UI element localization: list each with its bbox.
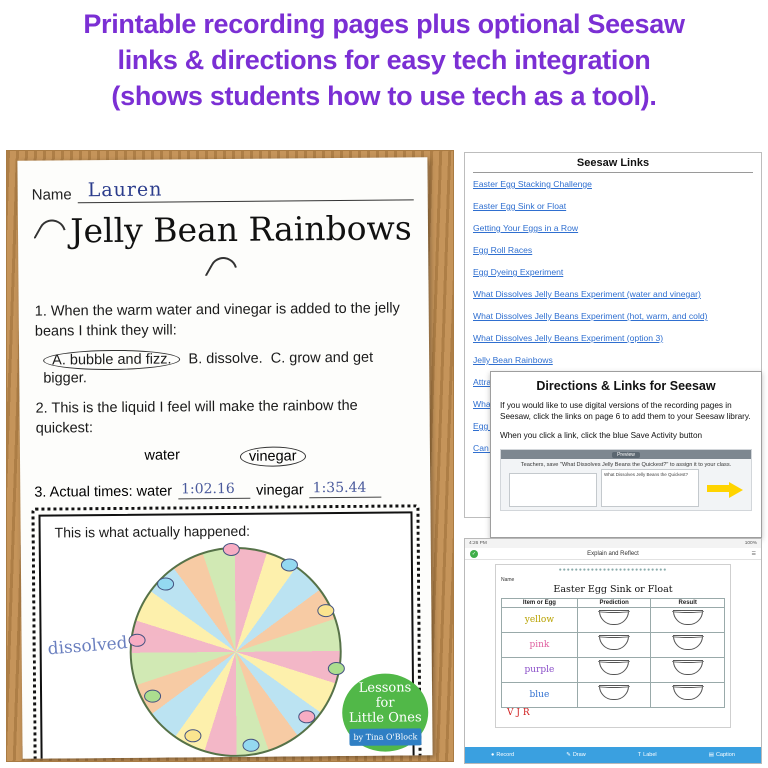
lessons-for-little-ones-logo: Lessons for Little Ones by Tina O'Block — [342, 673, 429, 752]
decorative-dots: ●●●●●●●●●●●●●●●●●●●●●●●●●●● — [496, 567, 730, 573]
status-battery: 100% — [745, 541, 757, 546]
swoosh-left-icon — [33, 214, 71, 252]
option-water: water — [144, 447, 180, 467]
swoosh-right-icon — [204, 252, 242, 290]
bean-icon — [328, 662, 345, 675]
sheet-name-label: Name — [501, 577, 725, 583]
bean-icon — [242, 739, 259, 752]
caption-button[interactable]: ▤Caption — [709, 752, 735, 758]
header-line-2: links & directions for easy tech integra… — [8, 42, 760, 78]
bowl-icon — [599, 610, 629, 625]
seesaw-link-item[interactable]: Easter Egg Sink or Float — [473, 201, 753, 212]
name-row: Name Lauren — [32, 179, 414, 203]
question-3-label: 3. Actual times: water — [34, 483, 172, 500]
bowl-icon — [599, 660, 629, 675]
column-header-item: Item or Egg — [502, 599, 578, 608]
seesaw-link-item[interactable]: Getting Your Eggs in a Row — [473, 223, 753, 234]
checkmark-icon[interactable]: ✓ — [470, 550, 478, 558]
row-item-label: blue — [502, 683, 578, 708]
row-item-label: yellow — [502, 608, 578, 633]
preview-button[interactable]: Preview — [612, 452, 640, 458]
digital-recording-sheet[interactable]: ●●●●●●●●●●●●●●●●●●●●●●●●●●● Name Easter … — [495, 564, 731, 728]
rainbow-circle-drawing — [129, 546, 343, 758]
seesaw-link-item[interactable]: Jelly Bean Rainbows — [473, 355, 753, 366]
logo-line-1: Lessons — [359, 680, 412, 695]
logo-line-2: for — [376, 695, 395, 710]
sheet-title: Easter Egg Sink or Float — [501, 584, 725, 595]
bean-icon — [298, 710, 315, 723]
seesaw-link-item[interactable]: What Dissolves Jelly Beans Experiment (w… — [473, 289, 753, 300]
name-line: Lauren — [78, 179, 414, 203]
header-line-1: Printable recording pages plus optional … — [8, 6, 760, 42]
logo-sub-label: by Tina O'Block — [349, 728, 421, 746]
name-handwritten-value: Lauren — [88, 179, 163, 202]
row-item-label: purple — [502, 658, 578, 683]
screenshot-thumbnail — [509, 473, 597, 507]
ipad-app-header: ✓ Explain and Reflect ☰ — [465, 548, 761, 560]
name-label: Name — [32, 186, 72, 203]
label-button[interactable]: TLabel — [638, 752, 657, 758]
seesaw-link-item[interactable]: What Dissolves Jelly Beans Experiment (o… — [473, 333, 753, 344]
seesaw-link-item[interactable]: Egg Roll Races — [473, 245, 753, 256]
row-result-cell[interactable] — [651, 633, 725, 658]
table-row: pink — [502, 633, 725, 658]
column-header-prediction: Prediction — [577, 599, 651, 608]
seesaw-links-title: Seesaw Links — [473, 157, 753, 173]
bean-icon — [223, 543, 240, 556]
bowl-icon — [673, 660, 703, 675]
yellow-arrow-icon — [729, 482, 743, 498]
logo-line-3: Little Ones — [349, 710, 422, 726]
vinegar-label: vinegar — [256, 482, 304, 498]
column-header-result: Result — [651, 599, 725, 608]
ipad-status-bar: 4:26 PM 100% — [465, 539, 761, 548]
row-prediction-cell[interactable] — [577, 658, 651, 683]
vinegar-time-value: 1:35.44 — [313, 480, 367, 496]
directions-title: Directions & Links for Seesaw — [500, 379, 752, 393]
vinegar-time-blank: 1:35.44 — [310, 480, 382, 499]
draw-button[interactable]: ✎Draw — [566, 752, 585, 758]
bowl-icon — [673, 610, 703, 625]
table-row: purple — [502, 658, 725, 683]
directions-panel: Directions & Links for Seesaw If you wou… — [490, 371, 762, 538]
row-prediction-cell[interactable] — [577, 633, 651, 658]
bean-icon — [157, 577, 174, 590]
worksheet-paper: Name Lauren Jelly Bean Rainbows 1. When … — [17, 157, 432, 759]
question-2-options: water vinegar — [34, 445, 416, 468]
row-result-cell[interactable] — [651, 683, 725, 708]
question-1-choices: A. bubble and fizz. B. dissolve. C. grow… — [43, 347, 413, 386]
seesaw-screenshot: Preview Teachers, save "What Dissolves J… — [500, 449, 752, 511]
bean-icon — [317, 604, 334, 617]
drawing-frame-label: This is what actually happened: — [55, 521, 411, 540]
worksheet-photo: Name Lauren Jelly Bean Rainbows 1. When … — [6, 150, 454, 762]
header-line-3: (shows students how to use tech as a too… — [8, 78, 760, 114]
question-2-text: 2. This is the liquid I feel will make t… — [35, 395, 413, 438]
status-time: 4:26 PM — [469, 541, 487, 546]
arrow-tail — [707, 485, 729, 492]
question-3-row: 3. Actual times: water 1:02.16 vinegar 1… — [34, 479, 416, 500]
header-text-block: Printable recording pages plus optional … — [0, 0, 768, 148]
table-row: yellow — [502, 608, 725, 633]
option-vinegar: vinegar — [240, 446, 306, 467]
bowl-icon — [599, 685, 629, 700]
bowl-icon — [599, 635, 629, 650]
question-1-text: 1. When the warm water and vinegar is ad… — [35, 298, 413, 341]
worksheet-title-row: Jelly Bean Rainbows — [32, 208, 415, 289]
choice-b: B. dissolve. — [188, 351, 262, 368]
water-time-value: 1:02.16 — [181, 481, 235, 497]
row-result-cell[interactable] — [651, 608, 725, 633]
row-prediction-cell[interactable] — [577, 608, 651, 633]
seesaw-link-item[interactable]: Easter Egg Stacking Challenge — [473, 179, 753, 190]
prediction-table: Item or Egg Prediction Result yellow pin… — [501, 598, 725, 708]
water-time-blank: 1:02.16 — [178, 481, 250, 500]
ipad-header-title: Explain and Reflect — [587, 551, 639, 557]
table-header-row: Item or Egg Prediction Result — [502, 599, 725, 608]
screenshot-detail-panel: What Dissolves Jelly Beans the Quickest? — [601, 469, 699, 507]
table-row: blue — [502, 683, 725, 708]
bean-icon — [184, 729, 201, 742]
seesaw-link-item[interactable]: Egg Dyeing Experiment — [473, 267, 753, 278]
bean-icon — [281, 558, 298, 571]
student-handwriting: V J R — [507, 708, 725, 718]
bean-icon — [144, 690, 161, 703]
screenshot-top-bar: Preview — [501, 450, 751, 459]
screenshot-caption: Teachers, save "What Dissolves Jelly Bea… — [501, 459, 751, 469]
row-result-cell[interactable] — [651, 658, 725, 683]
choice-a: A. bubble and fizz. — [43, 349, 180, 370]
row-prediction-cell[interactable] — [577, 683, 651, 708]
ipad-screenshot: 4:26 PM 100% ✓ Explain and Reflect ☰ ●●●… — [464, 538, 762, 764]
record-button[interactable]: ●Record — [491, 752, 514, 758]
bowl-icon — [673, 685, 703, 700]
seesaw-link-item[interactable]: What Dissolves Jelly Beans Experiment (h… — [473, 311, 753, 322]
row-item-label: pink — [502, 633, 578, 658]
drawing-note: dissolved — [47, 633, 128, 659]
bean-icon — [129, 634, 146, 647]
directions-paragraph-1: If you would like to use digital version… — [500, 400, 752, 422]
ipad-header-right: ☰ — [752, 551, 756, 557]
bowl-icon — [673, 635, 703, 650]
worksheet-title: Jelly Bean Rainbows — [70, 208, 412, 250]
directions-paragraph-2: When you click a link, click the blue Sa… — [500, 430, 752, 441]
ipad-toolbar: ●Record ✎Draw TLabel ▤Caption — [465, 747, 761, 763]
